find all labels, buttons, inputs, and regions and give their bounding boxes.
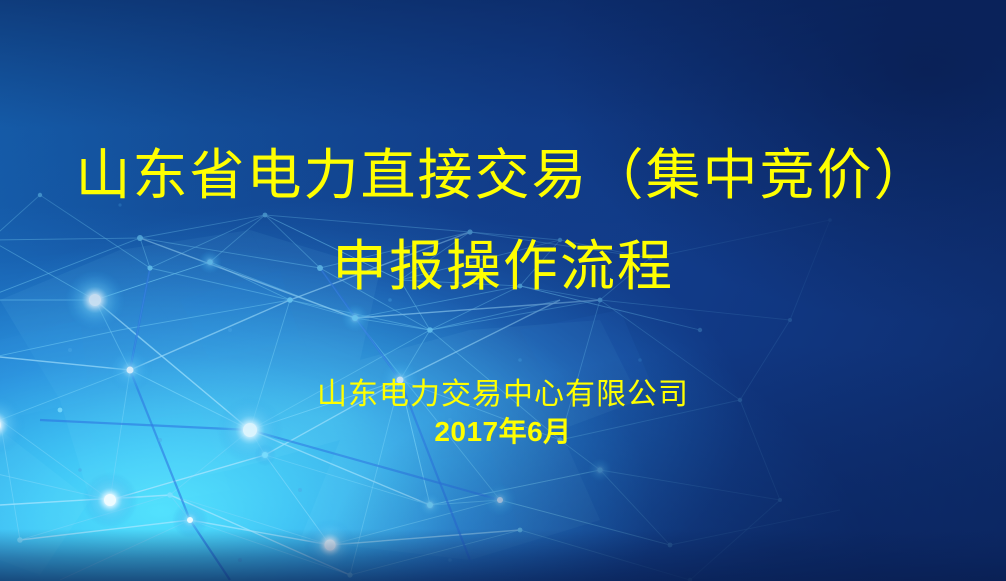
slide-text-layer: 山东省电力直接交易（集中竞价） 申报操作流程 山东电力交易中心有限公司 2017… — [0, 0, 1006, 581]
page-title: 山东省电力直接交易（集中竞价） 申报操作流程 — [0, 148, 1006, 294]
organization-name: 山东电力交易中心有限公司 — [0, 378, 1006, 412]
subtitle: 山东电力交易中心有限公司 2017年6月 — [0, 378, 1006, 447]
presentation-date: 2017年6月 — [0, 416, 1006, 447]
title-slide: 山东省电力直接交易（集中竞价） 申报操作流程 山东电力交易中心有限公司 2017… — [0, 0, 1006, 581]
title-line-2: 申报操作流程 — [0, 239, 1006, 294]
title-line-1: 山东省电力直接交易（集中竞价） — [0, 148, 1006, 203]
